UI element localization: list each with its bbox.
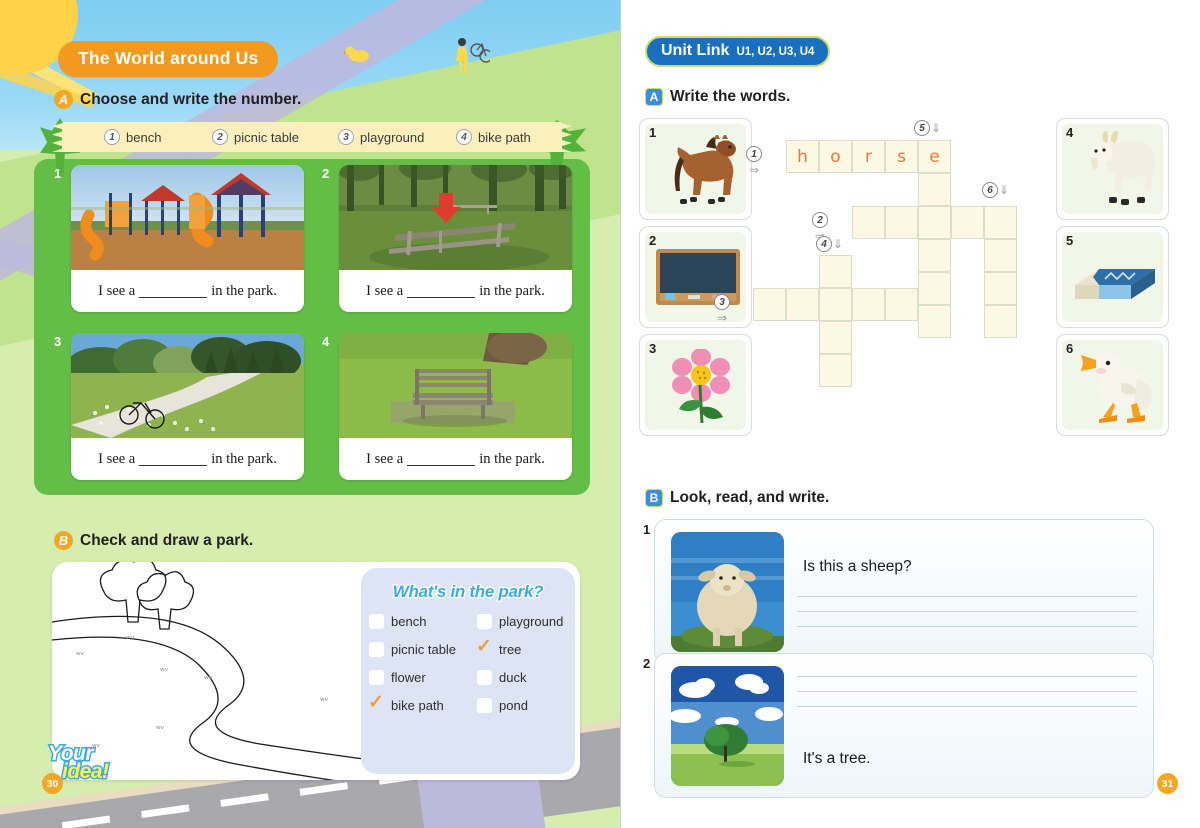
crossword-cell[interactable] — [984, 305, 1017, 338]
writing-line[interactable] — [797, 626, 1137, 627]
item-4-prefix: I see a — [366, 451, 403, 468]
word-bank-item-1: 1 bench — [104, 129, 212, 145]
checkbox-label-bike-path: bike path — [391, 698, 444, 713]
svg-text:ʷᵛ: ʷᵛ — [320, 697, 329, 707]
read-write-row-1-lines[interactable] — [797, 596, 1137, 641]
word-bank: 1 bench 2 picnic table 3 playground 4 bi… — [62, 122, 562, 152]
horse-icon — [662, 135, 744, 209]
page-title: The World around Us — [58, 41, 278, 77]
park-checklist-panel: What's in the park? bench playground pic… — [361, 568, 575, 774]
your-idea-line-2: idea! — [62, 763, 109, 781]
writing-line[interactable] — [797, 676, 1137, 677]
arrow-down-icon: ⇓ — [999, 183, 1009, 197]
writing-line[interactable] — [797, 611, 1137, 612]
svg-text:ʷᵛ: ʷᵛ — [76, 651, 85, 661]
crossword-cell[interactable] — [819, 321, 852, 354]
checkbox-item-bike-path[interactable]: bike path — [369, 698, 477, 713]
item-3-card[interactable]: I see a in the park. — [71, 333, 304, 480]
word-bank-item-2: 2 picnic table — [212, 129, 338, 145]
word-bank-num-3: 3 — [338, 129, 354, 145]
checkbox-bench[interactable] — [369, 614, 384, 629]
crossword-cell[interactable] — [885, 288, 918, 321]
crossword-cell[interactable] — [819, 255, 852, 288]
crossword-clue-5: 5 ⇓ — [914, 120, 941, 136]
item-1-sentence: I see a in the park. — [71, 270, 304, 312]
read-write-row-1-text: Is this a sheep? — [803, 558, 912, 576]
item-1-number: 1 — [54, 166, 61, 181]
svg-text:ʷᵛ: ʷᵛ — [160, 667, 169, 677]
item-1-card[interactable]: I see a in the park. — [71, 165, 304, 312]
crossword-cell[interactable] — [852, 206, 885, 239]
person-bicycle-decoration-icon — [452, 36, 490, 80]
section-a-header-right: A Write the words. — [645, 88, 790, 106]
item-4-sentence: I see a in the park. — [339, 438, 572, 480]
checkbox-label-duck: duck — [499, 670, 526, 685]
word-bank-label-3: playground — [360, 130, 424, 145]
read-write-row-1[interactable]: Is this a sheep? — [654, 519, 1154, 664]
crossword-clue-3: 3 ⇒ — [714, 294, 730, 325]
checkbox-label-bench: bench — [391, 614, 426, 629]
checkbox-playground[interactable] — [477, 614, 492, 629]
item-1-suffix: in the park. — [211, 283, 277, 300]
crossword-cell[interactable] — [984, 206, 1017, 239]
arrow-down-icon: ⇓ — [931, 121, 941, 135]
duck-decoration-icon — [344, 44, 372, 64]
item-4-blank[interactable] — [407, 452, 475, 466]
read-write-row-2-text: It's a tree. — [803, 750, 871, 768]
crossword-clue-2-number: 2 — [812, 212, 828, 228]
item-2-blank[interactable] — [407, 284, 475, 298]
eraser-icon — [1073, 255, 1157, 305]
item-4-card[interactable]: I see a in the park. — [339, 333, 572, 480]
crossword-cell[interactable] — [984, 272, 1017, 305]
goat-icon — [1079, 131, 1161, 209]
crossword-cell[interactable] — [786, 288, 819, 321]
crossword-letter-5: e — [918, 140, 951, 173]
sheep-photo — [671, 532, 784, 652]
checkbox-item-pond[interactable]: pond — [477, 698, 577, 713]
crossword-cell[interactable] — [819, 288, 852, 321]
crossword-clue-4-number: 4 — [816, 236, 832, 252]
item-4-suffix: in the park. — [479, 451, 545, 468]
unit-link-units: U1, U2, U3, U4 — [736, 46, 814, 58]
crossword-letter-4: s — [885, 140, 918, 173]
crossword-cell[interactable] — [819, 354, 852, 387]
section-a-title-right: Write the words. — [670, 88, 790, 106]
checkbox-item-flower[interactable]: flower — [369, 670, 477, 685]
read-write-row-1-number: 1 — [643, 522, 650, 537]
word-bank-num-2: 2 — [212, 129, 228, 145]
word-bank-num-4: 4 — [456, 129, 472, 145]
writing-line[interactable] — [797, 691, 1137, 692]
item-3-blank[interactable] — [139, 452, 207, 466]
read-write-row-2[interactable]: It's a tree. — [654, 653, 1154, 798]
duck-icon — [1081, 349, 1159, 425]
crossword-clue-1-number: 1 — [746, 146, 762, 162]
item-3-prefix: I see a — [98, 451, 135, 468]
unit-link-badge: Unit Link U1, U2, U3, U4 — [645, 36, 830, 67]
picture-card-1[interactable]: 1 — [639, 118, 752, 220]
picture-card-2-number: 2 — [649, 233, 656, 248]
checkbox-pond[interactable] — [477, 698, 492, 713]
word-bank-item-3: 3 playground — [338, 129, 456, 145]
crossword-clue-6: 6 ⇓ — [982, 182, 1009, 198]
crossword-cell[interactable] — [918, 272, 951, 305]
checkbox-label-pond: pond — [499, 698, 528, 713]
checkbox-duck[interactable] — [477, 670, 492, 685]
crossword-cell[interactable] — [918, 206, 951, 239]
checkbox-item-tree[interactable]: tree — [477, 642, 577, 657]
unit-link-label: Unit Link — [661, 42, 729, 60]
picture-card-2[interactable]: 2 — [639, 226, 752, 328]
item-2-number: 2 — [322, 166, 329, 181]
section-b-title: Check and draw a park. — [80, 532, 253, 550]
crossword-clue-5-number: 5 — [914, 120, 930, 136]
crossword-cell[interactable] — [753, 288, 786, 321]
svg-text:ʷᵛ: ʷᵛ — [204, 675, 213, 685]
checkbox-label-tree: tree — [499, 642, 521, 657]
section-b-badge: B — [54, 531, 73, 550]
read-write-row-2-number: 2 — [643, 656, 650, 671]
left-page: The World around Us A Choose and write t… — [0, 0, 620, 828]
checkbox-item-bench[interactable]: bench — [369, 614, 477, 629]
picture-card-3[interactable]: 3 — [639, 334, 752, 436]
crossword-letter-1: h — [786, 140, 819, 173]
checkbox-item-picnic-table[interactable]: picnic table — [369, 642, 477, 657]
picture-card-3-number: 3 — [649, 341, 656, 356]
item-4-number: 4 — [322, 334, 329, 349]
item-2-card[interactable]: I see a in the park. — [339, 165, 572, 312]
section-a-badge: A — [54, 90, 73, 109]
word-bank-label-2: picnic table — [234, 130, 299, 145]
word-bank-label-4: bike path — [478, 130, 531, 145]
checkbox-label-flower: flower — [391, 670, 426, 685]
checkbox-label-playground: playground — [499, 614, 563, 629]
item-1-blank[interactable] — [139, 284, 207, 298]
picnic-table-photo — [339, 165, 572, 270]
item-1-prefix: I see a — [98, 283, 135, 300]
crossword-clue-1: 1 ⇒ — [746, 146, 762, 177]
crossword-clue-4: 4 ⇓ — [816, 236, 843, 252]
checklist-title: What's in the park? — [361, 582, 575, 602]
arrow-right-icon: ⇒ — [717, 311, 727, 325]
crossword-cell[interactable] — [885, 206, 918, 239]
section-b-header-right: B Look, read, and write. — [645, 489, 829, 507]
crossword-letter-3: r — [852, 140, 885, 173]
page-number-right: 31 — [1157, 773, 1178, 794]
bench-photo — [339, 333, 572, 438]
crossword-cell[interactable] — [918, 305, 951, 338]
section-b-header-left: B Check and draw a park. — [54, 531, 253, 550]
item-3-number: 3 — [54, 334, 61, 349]
crossword-cell[interactable] — [951, 206, 984, 239]
item-2-suffix: in the park. — [479, 283, 545, 300]
item-2-sentence: I see a in the park. — [339, 270, 572, 312]
checkbox-item-playground[interactable]: playground — [477, 614, 577, 629]
playground-photo — [71, 165, 304, 270]
word-bank-item-4: 4 bike path — [456, 129, 531, 145]
writing-line[interactable] — [797, 706, 1137, 707]
svg-text:ʷᵛ: ʷᵛ — [126, 635, 135, 645]
word-bank-num-1: 1 — [104, 129, 120, 145]
crossword-cell[interactable] — [918, 239, 951, 272]
bike-path-photo — [71, 333, 304, 438]
checkbox-picnic-table[interactable] — [369, 642, 384, 657]
page-number-left: 30 — [42, 773, 63, 794]
section-b-badge-right: B — [645, 489, 663, 507]
svg-text:ʷᵛ: ʷᵛ — [156, 725, 165, 735]
section-a-header-left: A Choose and write the number. — [54, 90, 301, 109]
writing-line[interactable] — [797, 596, 1137, 597]
checkmark-bike-path-icon[interactable] — [369, 698, 384, 713]
checkbox-flower[interactable] — [369, 670, 384, 685]
checkmark-tree-icon[interactable] — [477, 642, 492, 657]
tree-photo — [671, 666, 784, 786]
item-2-prefix: I see a — [366, 283, 403, 300]
arrow-right-icon: ⇒ — [749, 163, 759, 177]
crossword-cell[interactable] — [852, 288, 885, 321]
checklist-grid: bench playground picnic table tree flowe… — [361, 614, 575, 713]
crossword-cell[interactable] — [918, 173, 951, 206]
section-a-title: Choose and write the number. — [80, 91, 301, 109]
flower-icon — [670, 349, 732, 425]
checkbox-label-picnic-table: picnic table — [391, 642, 456, 657]
arrow-down-icon: ⇓ — [833, 237, 843, 251]
crossword-clue-6-number: 6 — [982, 182, 998, 198]
crossword-clue-3-number: 3 — [714, 294, 730, 310]
checkbox-item-duck[interactable]: duck — [477, 670, 577, 685]
workbook-spread: The World around Us A Choose and write t… — [0, 0, 1200, 828]
crossword-cell[interactable] — [984, 239, 1017, 272]
picture-card-1-number: 1 — [649, 125, 656, 140]
section-a-badge-right: A — [645, 88, 663, 106]
read-write-row-2-lines[interactable] — [797, 676, 1137, 721]
crossword-letter-2: o — [819, 140, 852, 173]
picture-card-4-number: 4 — [1066, 125, 1073, 140]
word-bank-label-1: bench — [126, 130, 161, 145]
crossword-puzzle[interactable]: h o r s e 1 ⇒ 2 — [786, 140, 1076, 430]
item-3-suffix: in the park. — [211, 451, 277, 468]
item-3-sentence: I see a in the park. — [71, 438, 304, 480]
section-b-title-right: Look, read, and write. — [670, 489, 829, 507]
